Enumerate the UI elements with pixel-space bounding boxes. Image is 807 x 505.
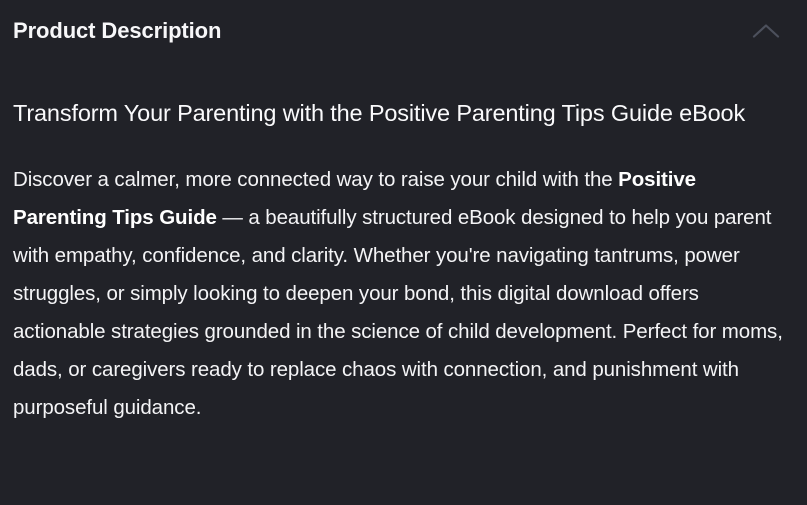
product-description-header[interactable]: Product Description: [13, 0, 794, 52]
product-description-panel: Product Description Transform Your Paren…: [0, 0, 807, 505]
chevron-up-icon: [752, 23, 780, 39]
paragraph-rest: — a beautifully structured eBook designe…: [13, 206, 783, 419]
paragraph-lead: Discover a calmer, more connected way to…: [13, 168, 618, 191]
product-heading: Transform Your Parenting with the Positi…: [13, 97, 794, 129]
collapse-toggle-button[interactable]: [747, 16, 785, 46]
product-description-content: Transform Your Parenting with the Positi…: [13, 52, 794, 427]
page-title: Product Description: [13, 17, 221, 45]
product-paragraph: Discover a calmer, more connected way to…: [13, 161, 794, 427]
